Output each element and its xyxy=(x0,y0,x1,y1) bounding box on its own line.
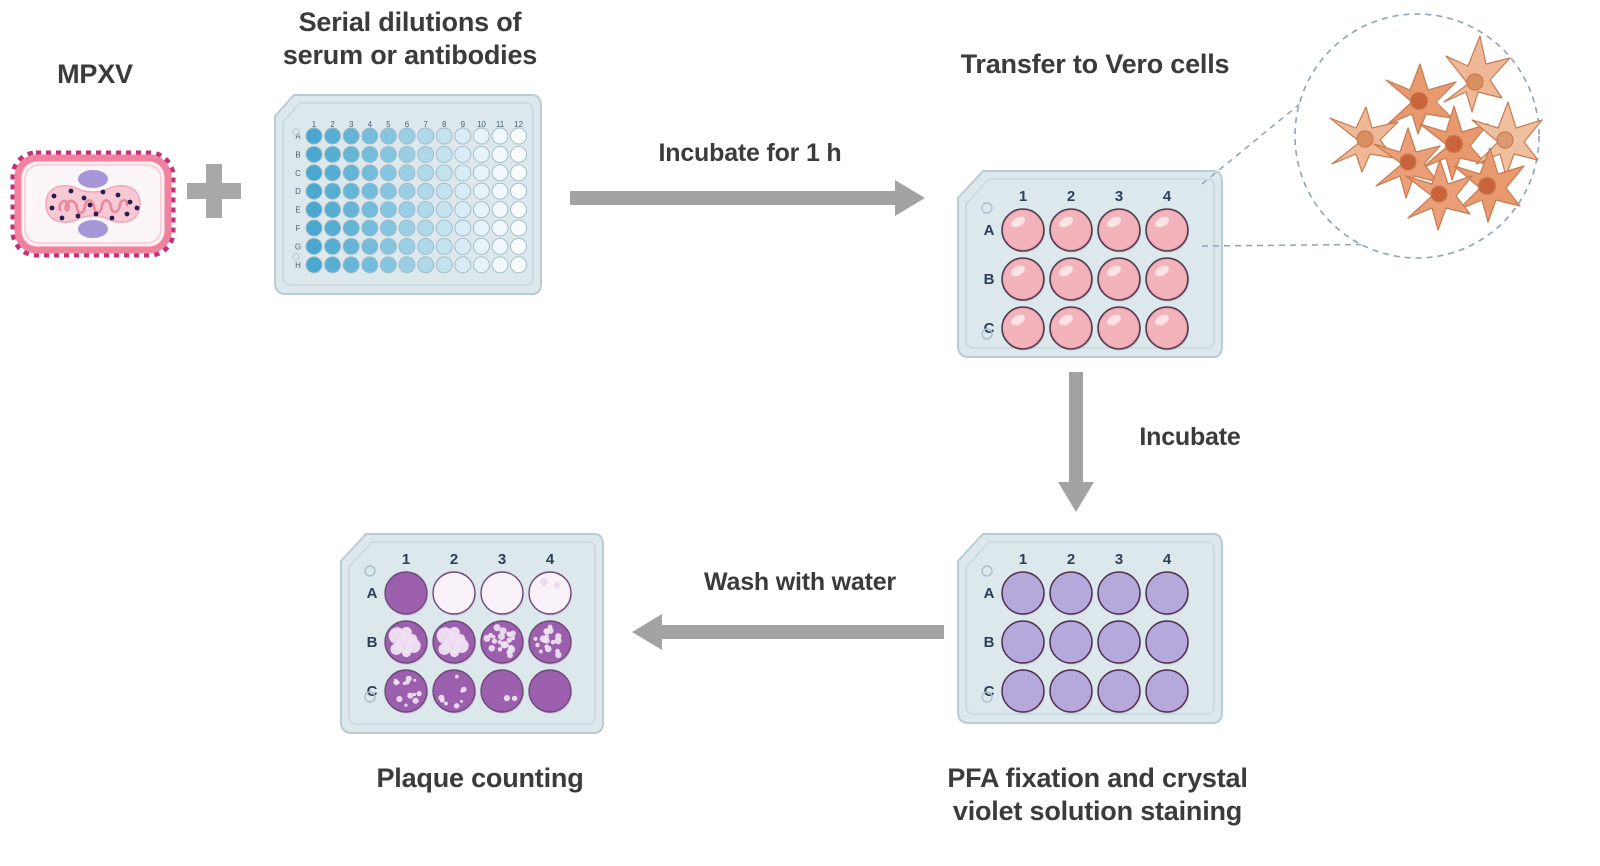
well-media xyxy=(1004,260,1042,298)
plate96-well[interactable] xyxy=(343,238,359,254)
arrow-head xyxy=(632,614,662,650)
plate96-well[interactable] xyxy=(436,202,452,218)
well-media xyxy=(1100,309,1138,347)
plate96-well[interactable] xyxy=(362,128,378,144)
label-wash-water: Wash with water xyxy=(655,567,945,598)
plate96-well[interactable] xyxy=(511,146,527,162)
plate96-well[interactable] xyxy=(362,257,378,273)
well-media xyxy=(1004,211,1042,249)
plate96-well[interactable] xyxy=(380,146,396,162)
vero-well[interactable] xyxy=(1050,258,1093,302)
well-circle xyxy=(1002,621,1044,663)
well-media xyxy=(1004,309,1042,347)
plate96-well[interactable] xyxy=(399,202,415,218)
plaque-spot xyxy=(483,635,490,642)
plate96-well[interactable] xyxy=(436,238,452,254)
plate96-well[interactable] xyxy=(380,183,396,199)
plate96-well[interactable] xyxy=(362,220,378,236)
plate96-well[interactable] xyxy=(511,202,527,218)
plate96-well[interactable] xyxy=(325,257,341,273)
plaque-spot xyxy=(438,695,444,701)
well-media xyxy=(1100,260,1138,298)
plate96-row-label: F xyxy=(296,224,301,233)
plate96-well[interactable] xyxy=(511,128,527,144)
plate96-well[interactable] xyxy=(455,128,471,144)
plate96-well[interactable] xyxy=(473,220,489,236)
plate-col-label: 2 xyxy=(450,551,458,568)
plate96-well[interactable] xyxy=(306,238,322,254)
plate96-well[interactable] xyxy=(362,202,378,218)
well-circle xyxy=(1098,621,1140,663)
plate96-well[interactable] xyxy=(492,165,508,181)
plate96-well[interactable] xyxy=(418,183,434,199)
plate96-well[interactable] xyxy=(380,257,396,273)
arrow-head xyxy=(895,180,925,216)
plate96-well[interactable] xyxy=(380,220,396,236)
plate96-well[interactable] xyxy=(436,146,452,162)
plate-col-label: 2 xyxy=(1067,188,1075,205)
plate96-well[interactable] xyxy=(511,238,527,254)
plate96-well[interactable] xyxy=(343,146,359,162)
plaque-blob xyxy=(407,634,417,644)
plate96-well[interactable] xyxy=(380,202,396,218)
plate96-well[interactable] xyxy=(362,183,378,199)
plaque-spot xyxy=(498,647,502,651)
plaque-spot xyxy=(413,679,416,682)
arrow-shaft xyxy=(1069,372,1083,484)
plate96-row-label: E xyxy=(295,206,300,215)
plate96-well[interactable] xyxy=(399,220,415,236)
plaque-spot xyxy=(404,704,407,707)
plate96-well[interactable] xyxy=(473,146,489,162)
well-media xyxy=(1100,211,1138,249)
plate96-well[interactable] xyxy=(436,165,452,181)
plate-col-label: 1 xyxy=(1019,551,1027,568)
plate96-well[interactable] xyxy=(455,202,471,218)
plate96-well[interactable] xyxy=(306,165,322,181)
plate96-well[interactable] xyxy=(473,183,489,199)
plaque-blob xyxy=(455,634,465,644)
well-circle xyxy=(1098,670,1140,712)
arrow-incubate xyxy=(1056,372,1096,512)
cleared-fill xyxy=(531,574,570,613)
well-media xyxy=(1052,309,1090,347)
plaque-spot xyxy=(535,643,540,648)
plate96-well[interactable] xyxy=(325,183,341,199)
label-plaque-counting: Plaque counting xyxy=(325,762,635,795)
plate96-well[interactable] xyxy=(511,257,527,273)
well-circle xyxy=(1050,670,1092,712)
plaque-blob xyxy=(438,643,450,655)
plate96-row-label: D xyxy=(295,187,301,196)
plate-row-label: B xyxy=(984,634,995,651)
well-circle xyxy=(1002,670,1044,712)
plaque-spot xyxy=(500,627,507,634)
plaque-spot xyxy=(512,696,517,701)
plate96-well[interactable] xyxy=(343,257,359,273)
plate96-well[interactable] xyxy=(492,220,508,236)
plaque-spot xyxy=(502,642,508,648)
label-pfa-staining: PFA fixation and crystal violet solution… xyxy=(905,762,1290,828)
plate96-well[interactable] xyxy=(418,165,434,181)
plate96-row-label: C xyxy=(295,169,301,178)
plate-row-label: A xyxy=(984,585,995,602)
mpxv-virion xyxy=(8,148,178,265)
well-circle xyxy=(1146,621,1188,663)
plate-row-label: B xyxy=(367,634,378,651)
plate96-well[interactable] xyxy=(399,146,415,162)
well-circle xyxy=(1146,670,1188,712)
well-circle xyxy=(385,572,427,614)
plate96-well[interactable] xyxy=(418,128,434,144)
plate96-well[interactable] xyxy=(473,238,489,254)
vero-well[interactable] xyxy=(1002,209,1045,253)
plate-col-label: 4 xyxy=(546,551,555,568)
plate96-well[interactable] xyxy=(399,238,415,254)
plate-crystal-violet[interactable]: 1234ABC xyxy=(955,531,1225,731)
well-media xyxy=(1052,260,1090,298)
plate96-well[interactable] xyxy=(436,257,452,273)
plate96-well[interactable] xyxy=(511,183,527,199)
plaque-spot xyxy=(454,703,459,708)
plate96-well[interactable] xyxy=(399,183,415,199)
plate96-well[interactable] xyxy=(399,165,415,181)
plate-row-label: C xyxy=(984,320,995,337)
plate-col-label: 3 xyxy=(498,551,506,568)
plaque-spot xyxy=(393,680,399,686)
plaque-spot xyxy=(539,650,543,654)
plate96-well[interactable] xyxy=(325,146,341,162)
plate96-well[interactable] xyxy=(492,238,508,254)
label-incubate: Incubate xyxy=(1100,422,1280,453)
plate96-well[interactable] xyxy=(492,146,508,162)
plate96-well[interactable] xyxy=(306,257,322,273)
plate96-well[interactable] xyxy=(473,128,489,144)
plaque-spot xyxy=(455,675,459,679)
arrow-incubate-1h xyxy=(570,178,925,218)
vero-well[interactable] xyxy=(1098,258,1141,302)
plate96-row-label: G xyxy=(295,242,301,251)
plate96-well[interactable] xyxy=(399,128,415,144)
plaque-spot xyxy=(534,637,538,641)
plus-icon xyxy=(183,160,245,233)
plaque-spot xyxy=(444,702,448,706)
plate96-well[interactable] xyxy=(343,128,359,144)
plaque-spot xyxy=(413,698,419,704)
plaque-spot xyxy=(504,695,510,701)
plate96-well[interactable] xyxy=(418,257,434,273)
plaque-spot xyxy=(554,582,560,588)
plate-row-label: C xyxy=(984,683,995,700)
plaque-spot xyxy=(461,687,467,693)
plate96-well[interactable] xyxy=(511,220,527,236)
well-circle xyxy=(1050,621,1092,663)
plate96-well[interactable] xyxy=(455,220,471,236)
plaque-spot xyxy=(407,693,413,699)
arrow-head xyxy=(1058,482,1094,512)
plaque-spot xyxy=(488,645,495,652)
plaque-spot xyxy=(492,639,497,644)
plate96-well[interactable] xyxy=(455,238,471,254)
well-media xyxy=(1052,211,1090,249)
plate96-well[interactable] xyxy=(343,202,359,218)
plate96-well[interactable] xyxy=(306,220,322,236)
plate96-well[interactable] xyxy=(473,202,489,218)
plate-col-label: 4 xyxy=(1163,188,1172,205)
well-circle xyxy=(1050,572,1092,614)
plaque-spot xyxy=(544,644,549,649)
plaque-spot xyxy=(508,633,512,637)
plate-col-label: 1 xyxy=(402,551,410,568)
diagram-canvas: MPXV Serial dilutions of serum or antibo… xyxy=(0,0,1600,866)
plate96-well[interactable] xyxy=(492,257,508,273)
label-incubate-1h: Incubate for 1 h xyxy=(585,138,915,169)
plate-row-label: B xyxy=(984,271,995,288)
vero-well[interactable] xyxy=(1050,209,1093,253)
plaque-spot xyxy=(555,637,562,644)
plate96-well[interactable] xyxy=(436,183,452,199)
plate96-well[interactable] xyxy=(473,165,489,181)
plate96-well[interactable] xyxy=(399,257,415,273)
plate96-well[interactable] xyxy=(306,146,322,162)
well-circle xyxy=(1002,572,1044,614)
plaque-spot xyxy=(548,625,553,630)
cleared-fill xyxy=(435,574,474,613)
plaque-blob xyxy=(450,648,459,657)
well-circle xyxy=(1098,572,1140,614)
label-serial-dilutions: Serial dilutions of serum or antibodies xyxy=(250,6,570,72)
well-circle xyxy=(1146,572,1188,614)
well-media xyxy=(1148,309,1186,347)
plate96-well[interactable] xyxy=(325,128,341,144)
plate96-well[interactable] xyxy=(455,257,471,273)
plate96-well[interactable] xyxy=(492,183,508,199)
well-circle xyxy=(481,670,523,712)
plate96-well[interactable] xyxy=(362,146,378,162)
vero-well[interactable] xyxy=(1146,307,1189,351)
plate96-well[interactable] xyxy=(492,128,508,144)
plaque-blob xyxy=(402,648,411,657)
plate96-well[interactable] xyxy=(492,202,508,218)
plate96-well[interactable] xyxy=(362,165,378,181)
plaque-spot xyxy=(417,691,422,696)
plaque-blob xyxy=(390,643,402,655)
plate96-well[interactable] xyxy=(343,220,359,236)
plate-plaque-counting[interactable]: 1234ABC xyxy=(338,531,606,741)
plate-col-label: 1 xyxy=(1019,188,1027,205)
plate96-row-label: H xyxy=(295,261,301,270)
plaque-spot xyxy=(406,676,412,682)
plate96-well[interactable] xyxy=(418,238,434,254)
plate96-well[interactable] xyxy=(325,165,341,181)
plate96-well[interactable] xyxy=(418,202,434,218)
vero-well[interactable] xyxy=(1050,307,1093,351)
plate96-well[interactable] xyxy=(343,183,359,199)
plate96-well[interactable] xyxy=(380,165,396,181)
plate96-well[interactable] xyxy=(511,165,527,181)
plate96-well[interactable] xyxy=(362,238,378,254)
plaque-spot xyxy=(555,649,560,654)
plaque-spot xyxy=(498,640,502,644)
plate96-well[interactable] xyxy=(455,146,471,162)
plate96-well[interactable] xyxy=(343,165,359,181)
plaque-spot xyxy=(413,693,416,696)
plate96-well[interactable] xyxy=(455,165,471,181)
arrow-wash-water xyxy=(632,612,944,652)
plate-row-label: C xyxy=(367,683,378,700)
plate-row-label: A xyxy=(367,585,378,602)
vero-well[interactable] xyxy=(1002,307,1045,351)
vero-well[interactable] xyxy=(1098,307,1141,351)
plate96-well[interactable] xyxy=(455,183,471,199)
plate-row-label: A xyxy=(984,222,995,239)
plaque-spot xyxy=(460,700,463,703)
plate96-row-label: B xyxy=(295,150,300,159)
plaque-spot xyxy=(540,578,548,586)
plate96-well[interactable] xyxy=(418,220,434,236)
plate96-well[interactable] xyxy=(306,202,322,218)
plaque-spot xyxy=(396,696,402,702)
plate96-well[interactable] xyxy=(436,128,452,144)
arrow-shaft xyxy=(660,625,944,639)
vero-well[interactable] xyxy=(1098,209,1141,253)
vero-cell-inset xyxy=(1180,6,1600,281)
vero-well[interactable] xyxy=(1002,258,1045,302)
plate96-well[interactable] xyxy=(325,202,341,218)
plate96-well[interactable] xyxy=(473,257,489,273)
plaque-spot xyxy=(492,635,496,639)
arrow-shaft xyxy=(570,191,897,205)
plate96-well[interactable] xyxy=(306,128,322,144)
plate-col-label: 3 xyxy=(1115,188,1123,205)
plate-96-well[interactable]: 123456789101112ABCDEFGH xyxy=(272,92,544,302)
plate96-well[interactable] xyxy=(418,146,434,162)
plate-col-label: 4 xyxy=(1163,551,1172,568)
plaque-spot xyxy=(544,638,550,644)
cleared-fill xyxy=(483,574,522,613)
plate96-well[interactable] xyxy=(325,220,341,236)
plate96-well[interactable] xyxy=(380,128,396,144)
plate96-well[interactable] xyxy=(436,220,452,236)
plate96-well[interactable] xyxy=(325,238,341,254)
plate96-well[interactable] xyxy=(306,183,322,199)
well-circle xyxy=(529,670,571,712)
label-mpxv: MPXV xyxy=(0,58,190,91)
plaque-spot xyxy=(494,624,501,631)
plate-col-label: 2 xyxy=(1067,551,1075,568)
plaque-spot xyxy=(506,650,511,655)
plate96-well[interactable] xyxy=(380,238,396,254)
plate-col-label: 3 xyxy=(1115,551,1123,568)
